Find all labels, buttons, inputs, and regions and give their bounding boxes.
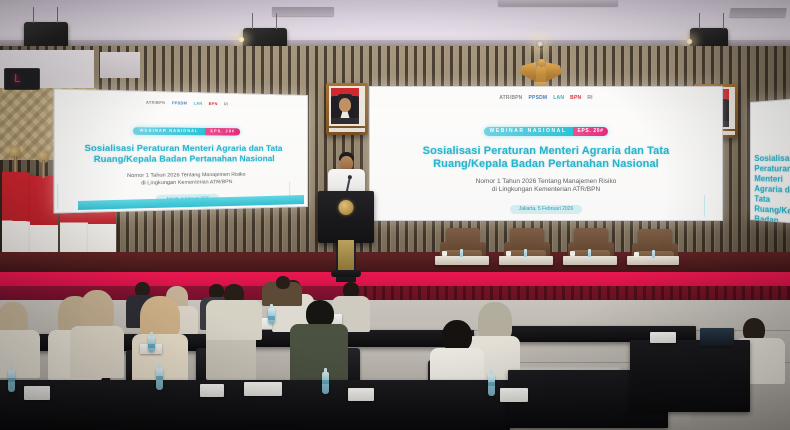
acoustic-panel [100,52,140,78]
stage-cup [570,251,575,256]
stage-water-bottle [524,249,527,257]
stage-coffee-table [499,256,553,265]
tissue-box [200,384,224,397]
conference-hall-photo: L [0,0,790,430]
projection-screen-main: ATR/BPN PPSDM LAN BPN RI WEBINAR NASIONA… [369,86,723,221]
tissue-box [500,388,528,402]
stage-coffee-table [435,256,489,265]
led-sign-text: L [14,72,21,85]
water-bottle [488,374,495,396]
downlight-icon [238,36,245,43]
led-display-sign: L [4,68,40,90]
stage-water-bottle [460,249,463,257]
stage-cup [442,251,447,256]
notepad [244,382,282,396]
presidential-portrait [326,83,368,135]
stage-coffee-table [563,256,617,265]
tissue-box [348,388,374,401]
emblem-spotlight-icon [536,40,544,48]
ceiling-vent [729,8,787,17]
water-bottle [322,372,329,394]
side-operator-table [630,340,750,412]
audience-person [206,284,262,340]
projection-screen-right: Sosialisasi Peraturan Menteri Agraria da… [750,97,790,225]
tissue-box [650,332,676,343]
podium-stand [338,240,354,274]
downlight-icon [686,38,693,45]
ceiling-vent [498,0,618,6]
stage-water-bottle [588,249,591,257]
ceiling-vent [272,7,334,16]
projection-screen-left: ATR/BPN PPSDM LAN BPN RI WEBINAR NASIONA… [53,88,308,213]
water-bottle [156,368,163,390]
stage-cup [506,251,511,256]
water-bottle [8,370,15,392]
podium-emblem-icon [339,200,354,215]
audience-person [290,300,348,382]
podium-base [331,270,361,277]
operator-laptop [700,328,734,346]
stage-cup [634,252,639,257]
water-bottle [268,308,275,324]
screen-frame [369,86,723,221]
water-bottle [148,336,155,352]
audience-person [68,290,124,378]
speaking-podium [318,191,374,243]
tissue-box [24,386,50,400]
audience-person [0,302,40,378]
stage-water-bottle [652,250,655,258]
screen-frame [750,97,790,225]
screen-frame [53,88,308,213]
